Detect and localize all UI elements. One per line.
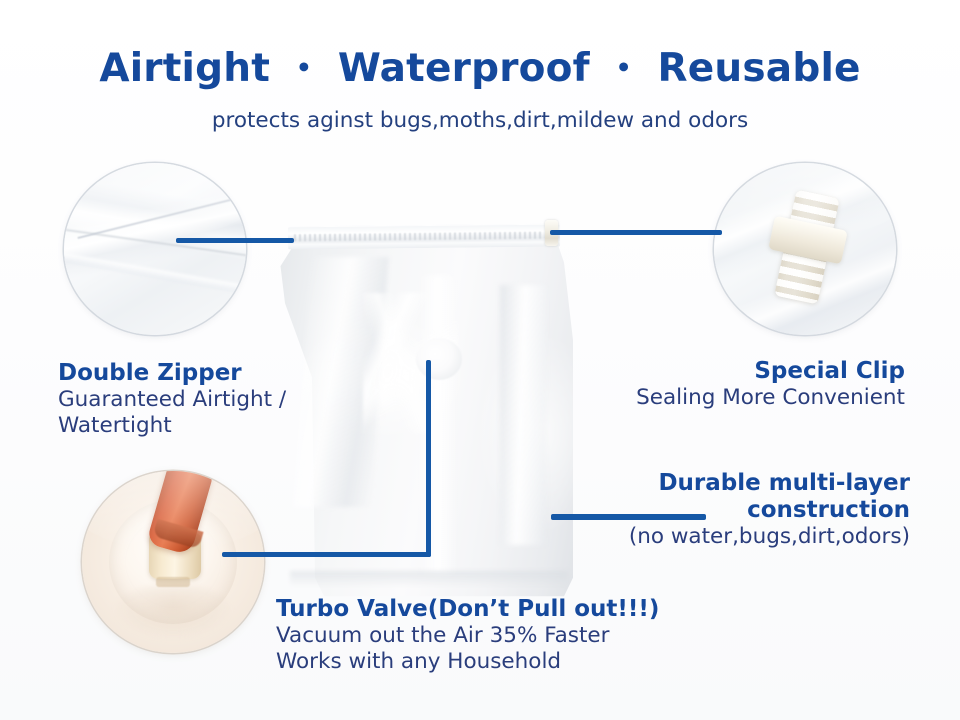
valve-shadow [113, 584, 233, 640]
leader-line-valve-horizontal [222, 552, 431, 557]
valve-closeup-circle [82, 471, 264, 653]
callout-title-special-clip: Special Clip [560, 358, 905, 385]
bag-valve [416, 338, 462, 380]
callout-title-durable-line-1: Durable multi-layer [540, 470, 910, 497]
headline-word-1: Airtight [97, 46, 272, 91]
zipper-seam-top [77, 193, 246, 239]
callout-desc-line-1: Sealing More Convenient [560, 385, 905, 411]
valve-cap-notch [156, 577, 190, 587]
callout-desc-line-2: Works with any Household [276, 649, 676, 675]
headline-word-3: Reusable [656, 46, 863, 91]
zipper-seam-middle [64, 228, 246, 258]
page-subtitle: protects aginst bugs,moths,dirt,mildew a… [0, 108, 960, 133]
callout-durable-construction: Durable multi-layer construction (no wat… [540, 470, 910, 550]
callout-desc-line-1: Vacuum out the Air 35% Faster [276, 623, 676, 649]
headline-word-2: Waterproof [336, 46, 592, 91]
callout-desc-line-1: Guaranteed Airtight / [58, 387, 358, 413]
page-title: Airtight • Waterproof • Reusable [0, 46, 960, 91]
zipper-closeup-circle [64, 163, 246, 335]
callout-title-turbo-valve: Turbo Valve(Don’t Pull out!!!) [276, 596, 676, 623]
infographic-canvas: Airtight • Waterproof • Reusable protect… [0, 0, 960, 720]
callout-turbo-valve: Turbo Valve(Don’t Pull out!!!) Vacuum ou… [276, 596, 676, 675]
leader-line-clip [550, 230, 722, 235]
callout-double-zipper: Double Zipper Guaranteed Airtight / Wate… [58, 360, 358, 439]
headline-separator-1: • [286, 53, 322, 82]
leader-line-valve-vertical [426, 360, 431, 557]
callout-desc-line-2: Watertight [58, 413, 358, 439]
clip-wing [768, 216, 847, 265]
leader-line-zipper [176, 238, 294, 243]
callout-title-double-zipper: Double Zipper [58, 360, 358, 387]
zipper-seam-bottom [64, 252, 246, 297]
bag-bottom-shadow [290, 571, 568, 587]
callout-title-durable-line-2: construction [540, 497, 910, 524]
callout-special-clip: Special Clip Sealing More Convenient [560, 358, 905, 411]
callout-desc-line-1: (no water,bugs,dirt,odors) [540, 524, 910, 550]
headline-separator-2: • [606, 53, 642, 82]
clip-closeup-circle [714, 163, 896, 335]
